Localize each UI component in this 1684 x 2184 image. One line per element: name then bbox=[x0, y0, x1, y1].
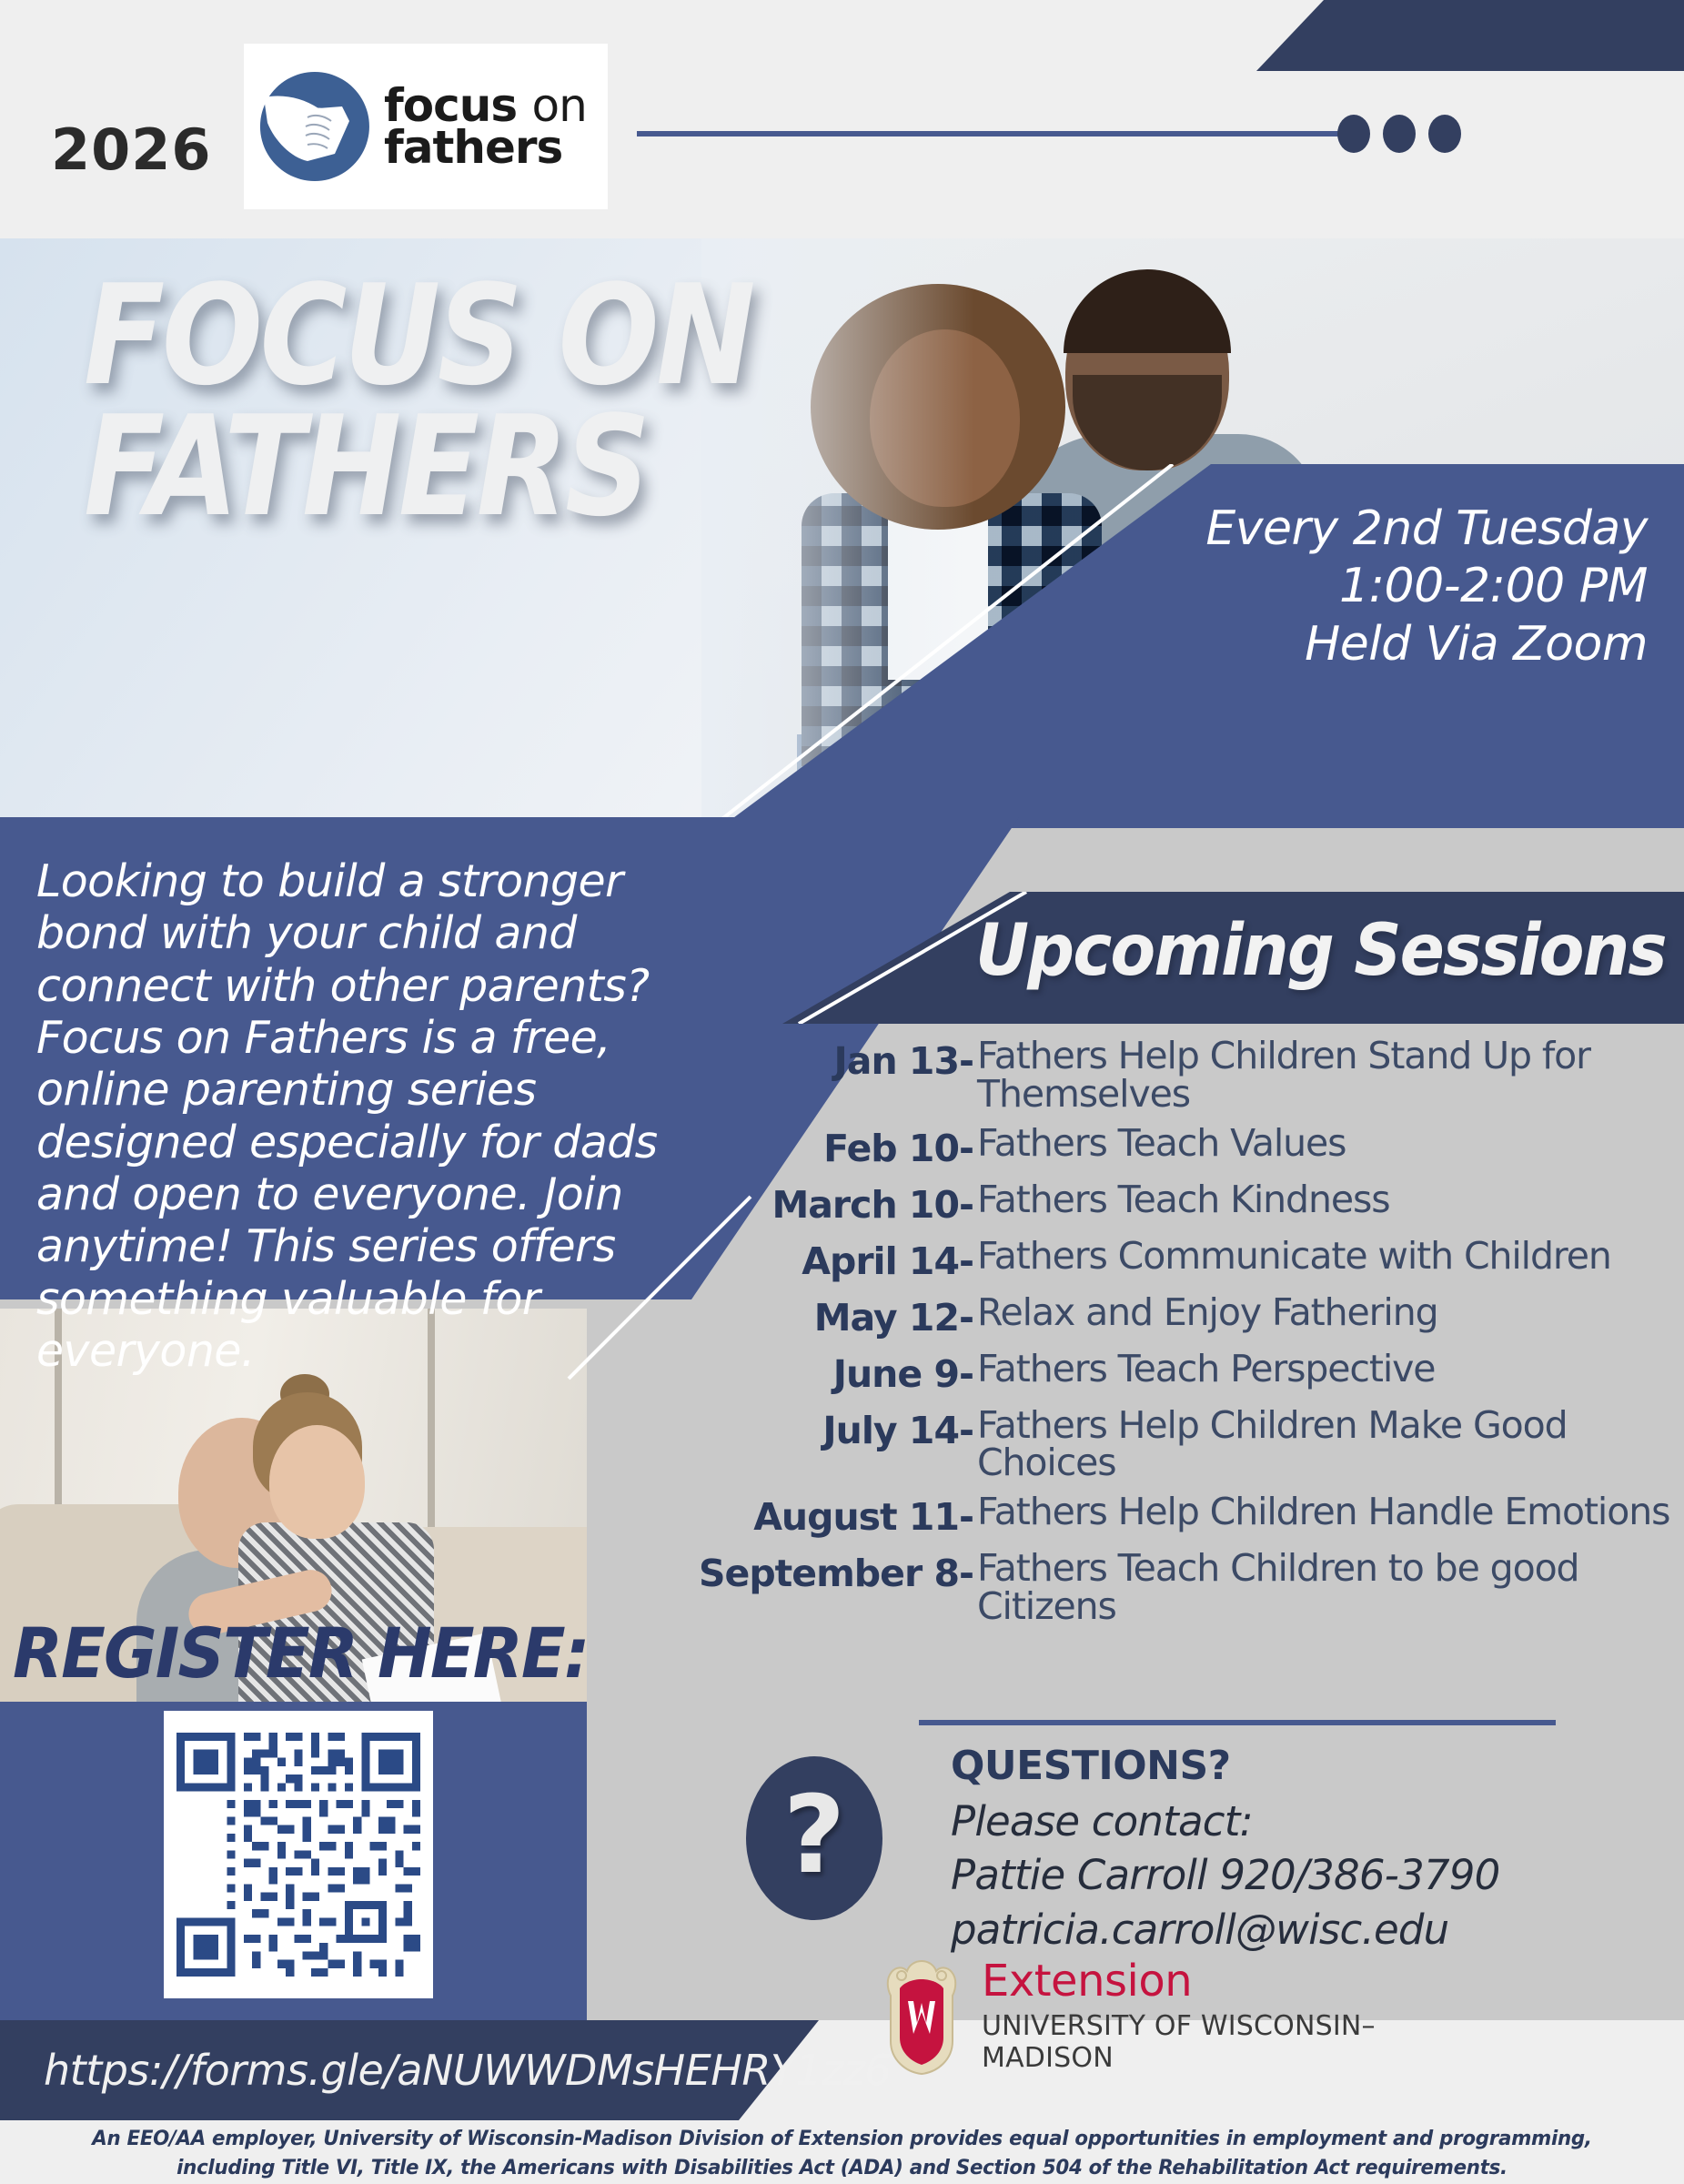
sessions-list: Jan 13- Fathers Help Children Stand Up f… bbox=[691, 1037, 1674, 1637]
session-row: Jan 13- Fathers Help Children Stand Up f… bbox=[691, 1037, 1674, 1114]
header-dots-decoration bbox=[1337, 115, 1461, 153]
session-row: August 11- Fathers Help Children Handle … bbox=[691, 1493, 1674, 1539]
session-row: September 8- Fathers Teach Children to b… bbox=[691, 1550, 1674, 1626]
session-row: April 14- Fathers Communicate with Child… bbox=[691, 1238, 1674, 1283]
footer-line-1: An EEO/AA employer, University of Wiscon… bbox=[25, 2125, 1659, 2154]
intro-accent-slash bbox=[564, 1192, 755, 1383]
sessions-heading: Upcoming Sessions bbox=[975, 910, 1666, 992]
session-date: July 14- bbox=[691, 1407, 973, 1452]
questions-block: QUESTIONS? Please contact: Pattie Carrol… bbox=[951, 1743, 1588, 1956]
contact-name-phone: Pattie Carroll 920/386-3790 bbox=[951, 1848, 1588, 1902]
footer-line-2: including Title VI, Title IX, the Americ… bbox=[25, 2154, 1659, 2183]
extension-wordmark: Extension bbox=[982, 1959, 1460, 2003]
session-topic: Fathers Teach Perspective bbox=[973, 1350, 1674, 1389]
session-row: June 9- Fathers Teach Perspective bbox=[691, 1350, 1674, 1396]
meta-line-day: Every 2nd Tuesday bbox=[1205, 500, 1648, 558]
session-date: Feb 10- bbox=[691, 1125, 973, 1170]
schedule-meta: Every 2nd Tuesday 1:00-2:00 PM Held Via … bbox=[1205, 500, 1648, 673]
dot-icon bbox=[1383, 115, 1416, 153]
questions-divider bbox=[919, 1720, 1556, 1725]
session-topic: Fathers Help Children Stand Up for Thems… bbox=[973, 1037, 1674, 1114]
flyer-page: 2026 fo bbox=[0, 0, 1684, 2184]
header-divider-line bbox=[637, 131, 1365, 136]
session-topic: Fathers Teach Kindness bbox=[973, 1181, 1674, 1219]
contact-instruction: Please contact: bbox=[951, 1795, 1588, 1848]
qr-code-image[interactable] bbox=[176, 1724, 420, 1986]
logo-line-2: fathers bbox=[384, 126, 587, 168]
question-mark-icon: ? bbox=[783, 1781, 845, 1888]
hero-banner: FOCUS ON FATHERS Every 2nd Tuesday 1:00-… bbox=[0, 238, 1684, 828]
session-row: March 10- Fathers Teach Kindness bbox=[691, 1181, 1674, 1227]
session-row: July 14- Fathers Help Children Make Good… bbox=[691, 1407, 1674, 1483]
session-topic: Fathers Teach Children to be good Citize… bbox=[973, 1550, 1674, 1626]
handshake-circle-icon bbox=[255, 66, 375, 187]
session-topic: Relax and Enjoy Fathering bbox=[973, 1294, 1674, 1332]
session-date: September 8- bbox=[691, 1550, 973, 1595]
hero-title: FOCUS ON FATHERS bbox=[84, 270, 752, 533]
question-mark-badge: ? bbox=[746, 1756, 882, 1920]
meta-line-platform: Held Via Zoom bbox=[1205, 616, 1648, 673]
uw-extension-logo: Extension UNIVERSITY OF WISCONSIN–MADISO… bbox=[878, 1955, 1460, 2078]
contact-email[interactable]: patricia.carroll@wisc.edu bbox=[951, 1903, 1588, 1956]
session-date: August 11- bbox=[691, 1493, 973, 1539]
session-topic: Fathers Help Children Handle Emotions bbox=[973, 1493, 1674, 1532]
session-row: May 12- Relax and Enjoy Fathering bbox=[691, 1294, 1674, 1340]
uw-logo-text: Extension UNIVERSITY OF WISCONSIN–MADISO… bbox=[982, 1959, 1460, 2074]
logo-wordmark: focus on fathers bbox=[384, 85, 587, 168]
focus-on-fathers-logo: focus on fathers bbox=[244, 44, 608, 209]
session-date: Jan 13- bbox=[691, 1037, 973, 1083]
footer-disclaimer: An EEO/AA employer, University of Wiscon… bbox=[25, 2125, 1659, 2183]
session-topic: Fathers Teach Values bbox=[973, 1125, 1674, 1163]
session-topic: Fathers Help Children Make Good Choices bbox=[973, 1407, 1674, 1483]
dot-icon bbox=[1337, 115, 1370, 153]
registration-url[interactable]: https://forms.gle/aNUWWDMsHEHRY1zz6 bbox=[44, 2046, 891, 2095]
meta-line-time: 1:00-2:00 PM bbox=[1205, 558, 1648, 615]
university-subtitle: UNIVERSITY OF WISCONSIN–MADISON bbox=[982, 2010, 1460, 2074]
session-topic: Fathers Communicate with Children bbox=[973, 1238, 1674, 1276]
uw-crest-icon bbox=[878, 1957, 965, 2076]
register-here-label: REGISTER HERE: bbox=[13, 1613, 589, 1694]
dot-icon bbox=[1428, 115, 1461, 153]
qr-code[interactable] bbox=[164, 1711, 433, 1998]
questions-heading: QUESTIONS? bbox=[951, 1743, 1588, 1789]
year-label: 2026 bbox=[51, 116, 212, 183]
top-right-corner-shape bbox=[1256, 0, 1684, 71]
session-row: Feb 10- Fathers Teach Values bbox=[691, 1125, 1674, 1170]
